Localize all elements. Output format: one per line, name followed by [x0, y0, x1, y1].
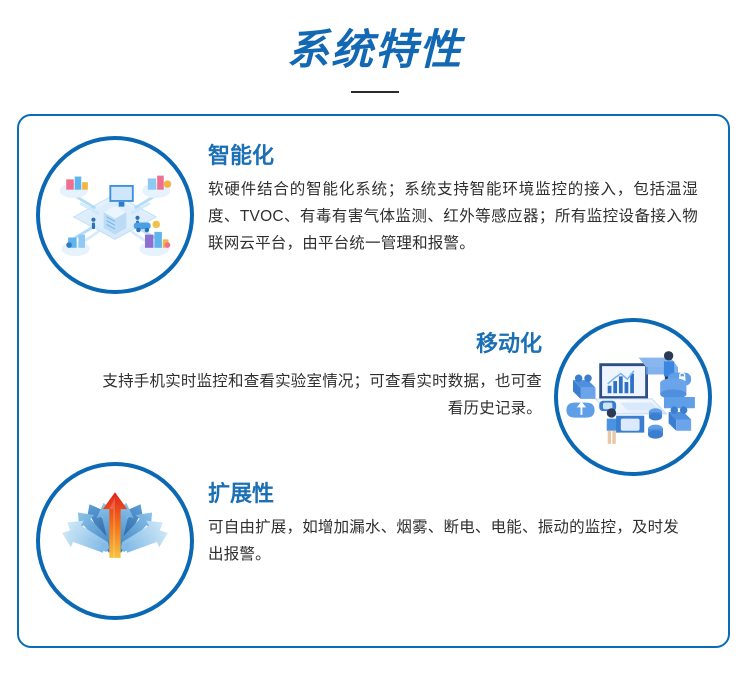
feature-heading-extensible: 扩展性	[208, 480, 688, 508]
feature-heading-intelligent: 智能化	[208, 142, 698, 170]
laptop-dashboard-cloud-illustration-icon	[554, 318, 712, 476]
converging-arrows-growth-illustration-icon	[36, 462, 194, 620]
feature-mobile: 移动化 支持手机实时监控和查看实验室情况；可查看实时数据，也可查看历史记录。	[92, 330, 542, 422]
feature-extensible: 扩展性 可自由扩展，如增加漏水、烟雾、断电、电能、振动的监控，及时发出报警。	[208, 480, 688, 568]
feature-heading-mobile: 移动化	[92, 330, 542, 358]
feature-body-intelligent: 软硬件结合的智能化系统；系统支持智能环境监控的接入，包括温湿度、TVOC、有毒有…	[208, 176, 698, 257]
smart-city-network-illustration-icon	[36, 136, 194, 294]
feature-intelligent: 智能化 软硬件结合的智能化系统；系统支持智能环境监控的接入，包括温湿度、TVOC…	[208, 142, 698, 257]
title-divider	[351, 91, 399, 93]
feature-body-mobile: 支持手机实时监控和查看实验室情况；可查看实时数据，也可查看历史记录。	[92, 368, 542, 422]
page-header: 系统特性	[0, 0, 750, 114]
page-title: 系统特性	[0, 24, 750, 76]
feature-body-extensible: 可自由扩展，如增加漏水、烟雾、断电、电能、振动的监控，及时发出报警。	[208, 514, 688, 568]
